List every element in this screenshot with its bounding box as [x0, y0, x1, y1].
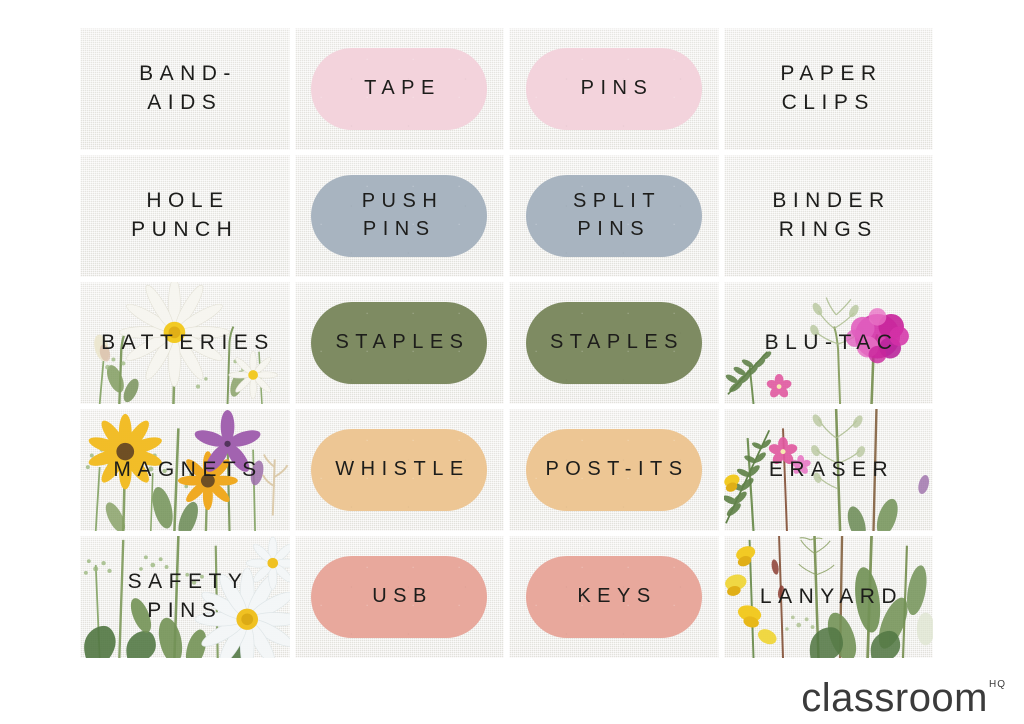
label-card-text: BLU-TAC — [758, 329, 898, 358]
label-grid: BAND- AIDS TAPE PINS PAPER CLIPS HOLE PU… — [80, 28, 933, 658]
label-card-blu-tac[interactable]: BLU-TAC — [724, 282, 934, 404]
label-pill: STAPLES — [311, 302, 487, 384]
label-card-text: BAND- AIDS — [133, 60, 237, 118]
label-card-text: TAPE — [358, 75, 441, 103]
label-card-text: MAGNETS — [107, 456, 263, 485]
label-card-whistle[interactable]: WHISTLE — [295, 409, 505, 531]
label-card-usb[interactable]: USB — [295, 536, 505, 658]
classroom-hq-logo: classroom HQ — [801, 678, 1006, 718]
label-card-text: USB — [366, 583, 433, 611]
label-card-keys[interactable]: KEYS — [509, 536, 719, 658]
label-card-batteries[interactable]: BATTERIES — [80, 282, 290, 404]
label-card-text: BATTERIES — [95, 329, 275, 358]
label-card-push-pins[interactable]: PUSH PINS — [295, 155, 505, 277]
label-card-text: POST-ITS — [539, 456, 689, 484]
label-pill: STAPLES — [526, 302, 702, 384]
label-pill: POST-ITS — [526, 429, 702, 511]
label-pill: USB — [311, 556, 487, 638]
label-card-text: ERASER — [762, 456, 894, 485]
label-pill: KEYS — [526, 556, 702, 638]
label-card-magnets[interactable]: MAGNETS — [80, 409, 290, 531]
label-pill: PINS — [526, 48, 702, 130]
brand-wordmark: classroom — [801, 678, 988, 718]
label-card-safety-pins[interactable]: SAFETY PINS — [80, 536, 290, 658]
label-card-pins[interactable]: PINS — [509, 28, 719, 150]
label-pill: PUSH PINS — [311, 175, 487, 257]
label-card-staples-b[interactable]: STAPLES — [509, 282, 719, 404]
label-card-eraser[interactable]: ERASER — [724, 409, 934, 531]
label-card-text: HOLE PUNCH — [131, 187, 238, 245]
label-card-text: SPLIT PINS — [566, 188, 661, 243]
label-card-text: STAPLES — [543, 329, 684, 357]
label-card-hole-punch[interactable]: HOLE PUNCH — [80, 155, 290, 277]
label-card-text: BINDER RINGS — [766, 187, 891, 245]
label-pill: TAPE — [311, 48, 487, 130]
label-card-post-its[interactable]: POST-ITS — [509, 409, 719, 531]
brand-superscript: HQ — [989, 680, 1006, 690]
label-card-text: WHISTLE — [329, 456, 470, 484]
label-card-lanyard[interactable]: LANYARD — [724, 536, 934, 658]
label-pill: WHISTLE — [311, 429, 487, 511]
label-card-text: SAFETY PINS — [121, 568, 248, 626]
label-card-text: PUSH PINS — [355, 188, 443, 243]
label-card-text: KEYS — [571, 583, 657, 611]
label-card-binder-rings[interactable]: BINDER RINGS — [724, 155, 934, 277]
label-card-text: LANYARD — [753, 583, 903, 612]
label-card-text: PAPER CLIPS — [774, 60, 883, 118]
label-pill: SPLIT PINS — [526, 175, 702, 257]
label-card-text: STAPLES — [329, 329, 470, 357]
label-card-tape[interactable]: TAPE — [295, 28, 505, 150]
label-card-band-aids[interactable]: BAND- AIDS — [80, 28, 290, 150]
label-card-split-pins[interactable]: SPLIT PINS — [509, 155, 719, 277]
label-card-text: PINS — [574, 75, 653, 103]
label-card-paper-clips[interactable]: PAPER CLIPS — [724, 28, 934, 150]
label-card-staples-a[interactable]: STAPLES — [295, 282, 505, 404]
